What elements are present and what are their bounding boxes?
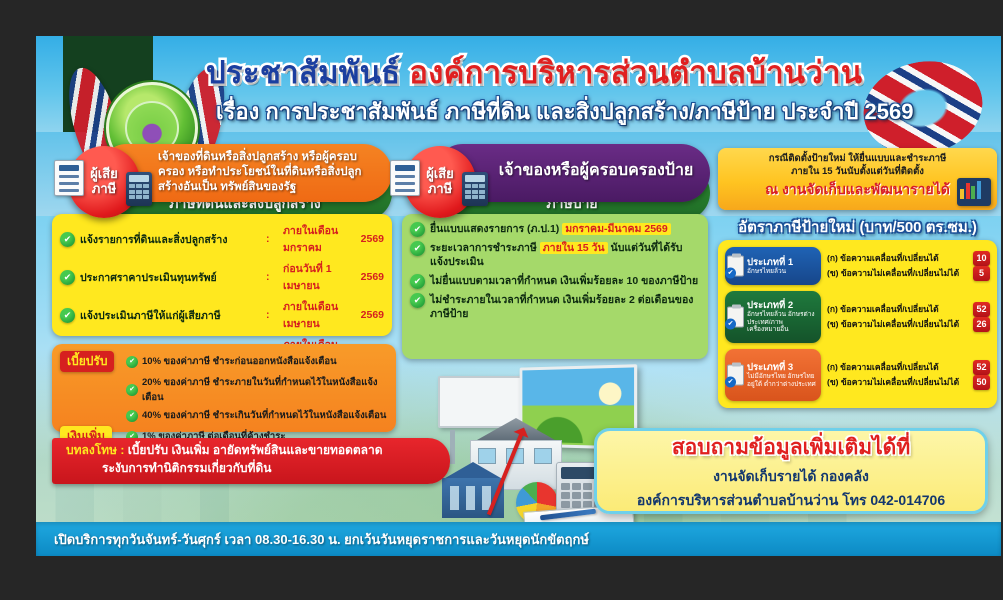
rate-type-title-3: ประเภทที่ 3 [747, 362, 817, 373]
rate-item-label: (ก) ข้อความเคลื่อนที่/เปลี่ยนได้ [827, 252, 970, 265]
calculator-icon [462, 172, 488, 206]
page-title-blue: ประชาสัมพันธ์ [206, 55, 409, 90]
schedule-label: แจ้งประเมินภาษีให้แก่ผู้เสียภาษี [80, 307, 266, 324]
land-payer-label-1: ผู้เสีย [90, 167, 118, 182]
rate-item: (ก) ข้อความเคลื่อนที่/เปลี่ยนได้ 52 [827, 360, 990, 375]
clipboard-check-icon [727, 307, 744, 328]
sanction-bar: บทลงโทษ : เบี้ยปรับ เงินเพิ่ม อายัดทรัพย… [52, 438, 450, 484]
land-payer-label-2: ภาษี [92, 182, 116, 197]
rate-table-header: อัตราภาษีป้ายใหม่ (บาท/500 ตร.ซม.) [718, 214, 997, 240]
contact-department: งานจัดเก็บรายได้ กองคลัง [713, 466, 869, 488]
penalty-text: 20% ของค่าภาษี ชำระภายในวันที่กำหนดไว้ใน… [142, 375, 388, 405]
sign-schedule-text: ยื่นแบบแสดงรายการ (ภ.ป.1) มกราคม-มีนาคม … [430, 222, 700, 236]
table-row: ประเภทที่ 3 ไม่มีอักษรไทย อักษรไทยอยู่ใต… [725, 349, 990, 401]
check-icon: ✔ [126, 384, 138, 396]
rate-type-badge-2: ประเภทที่ 2 อักษรไทยล้วน อักษรต่างประเทศ… [725, 291, 821, 343]
check-icon: ✔ [60, 270, 75, 285]
check-icon: ✔ [410, 274, 425, 289]
monitor-chart-icon [957, 178, 991, 206]
list-item: ✔ ยื่นแบบแสดงรายการ (ภ.ป.1) มกราคม-มีนาค… [410, 222, 700, 237]
page-title: ประชาสัมพันธ์ องค์การบริหารส่วนตำบลบ้านว… [206, 56, 906, 90]
document-icon [390, 160, 420, 196]
check-icon: ✔ [60, 308, 75, 323]
sign-schedule-text: ไม่ชำระภายในเวลาที่กำหนด เงินเพิ่มร้อยละ… [430, 293, 700, 322]
rate-type-title-2: ประเภทที่ 2 [747, 300, 817, 311]
sign-taxpayer-badge: ผู้เสีย ภาษี [404, 146, 476, 218]
sign-schedule-highlight: มกราคม-มีนาคม 2569 [562, 223, 670, 235]
check-icon: ✔ [410, 241, 425, 256]
schedule-year: 2569 [350, 233, 384, 245]
clipboard-check-icon [727, 365, 744, 386]
list-item: ✔ ไม่ชำระภายในเวลาที่กำหนด เงินเพิ่มร้อย… [410, 293, 700, 322]
sanction-text-1: เบี้ยปรับ เงินเพิ่ม อายัดทรัพย์สินและขาย… [128, 443, 383, 457]
land-taxpayer-description: เจ้าของที่ดินหรือสิ่งปลูกสร้าง หรือผู้คร… [158, 150, 380, 196]
new-sign-line-3: ณ งานจัดเก็บและพัฒนารายได้ [726, 180, 989, 199]
rate-item-value: 26 [973, 317, 990, 332]
schedule-label: แจ้งรายการที่ดินและสิ่งปลูกสร้าง [80, 231, 266, 248]
contact-office-phone: องค์การบริหารส่วนตำบลบ้านว่าน โทร 042-01… [637, 490, 945, 512]
check-icon: ✔ [126, 410, 138, 422]
rate-item: (ข) ข้อความไม่เคลื่อนที่/เปลี่ยนไม่ได้ 2… [827, 317, 990, 332]
sign-tax-rate-table: ประเภทที่ 1 อักษรไทยล้วน (ก) ข้อความเคลื… [718, 240, 997, 408]
rate-item-value: 50 [973, 375, 990, 390]
clipboard-check-icon [727, 256, 744, 277]
sign-schedule-pre: ยื่นแบบแสดงรายการ (ภ.ป.1) [430, 223, 562, 235]
list-item: ✔ 40% ของค่าภาษี ชำระเกินวันที่กำหนดไว้ใ… [60, 408, 388, 423]
rate-item: (ข) ข้อความไม่เคลื่อนที่/เปลี่ยนไม่ได้ 5… [827, 375, 990, 390]
page-title-red: องค์การบริหารส่วนตำบลบ้านว่าน [409, 55, 862, 90]
list-item: ✔ ไม่ยื่นแบบตามเวลาที่กำหนด เงินเพิ่มร้อ… [410, 274, 700, 289]
list-item: ✔ แจ้งรายการที่ดินและสิ่งปลูกสร้าง : ภาย… [60, 222, 384, 256]
sanction-tag: บทลงโทษ : [66, 443, 124, 457]
table-row: ประเภทที่ 1 อักษรไทยล้วน (ก) ข้อความเคลื… [725, 247, 990, 285]
land-taxpayer-badge: ผู้เสีย ภาษี [68, 146, 140, 218]
new-sign-line-2: ภายใน 15 วันนับตั้งแต่วันที่ติดตั้ง [726, 166, 989, 179]
schedule-separator: : [266, 233, 283, 245]
sign-schedule-text: ระยะเวลาการชำระภาษี ภายใน 15 วัน นับแต่ว… [430, 241, 700, 270]
sanction-line-1: บทลงโทษ : เบี้ยปรับ เงินเพิ่ม อายัดทรัพย… [66, 443, 436, 459]
schedule-separator: : [266, 271, 283, 283]
rate-type-desc-1: อักษรไทยล้วน [747, 268, 793, 276]
rate-item-label: (ก) ข้อความเคลื่อนที่/เปลี่ยนได้ [827, 303, 970, 316]
schedule-separator: : [266, 309, 283, 321]
list-item: ✔ 20% ของค่าภาษี ชำระภายในวันที่กำหนดไว้… [60, 375, 388, 405]
sign-taxpayer-description: เจ้าของหรือผู้ครอบครองป้าย [494, 150, 698, 181]
list-item: ✔ แจ้งประเมินภาษีให้แก่ผู้เสียภาษี : ภาย… [60, 298, 384, 332]
rate-item-label: (ข) ข้อความไม่เคลื่อนที่/เปลี่ยนไม่ได้ [827, 376, 970, 389]
penalty-panel: เบี้ยปรับ ✔ 10% ของค่าภาษี ชำระก่อนออกหน… [52, 344, 396, 432]
rate-type-title-1: ประเภทที่ 1 [747, 257, 793, 268]
rate-item: (ข) ข้อความไม่เคลื่อนที่/เปลี่ยนไม่ได้ 5 [827, 266, 990, 281]
rate-type-desc-2: อักษรไทยล้วน อักษรต่างประเทศ/ภาพ เครื่อง… [747, 311, 817, 334]
rate-type-badge-1: ประเภทที่ 1 อักษรไทยล้วน [725, 247, 821, 285]
rate-item: (ก) ข้อความเคลื่อนที่/เปลี่ยนได้ 52 [827, 302, 990, 317]
schedule-year: 2569 [350, 309, 384, 321]
schedule-label: ประกาศราคาประเมินทุนทรัพย์ [80, 269, 266, 286]
schedule-due: ภายในเดือน มกราคม [283, 222, 350, 256]
land-taxpayer-banner: ภาษีที่ดินและสิ่งปลูกสร้าง เจ้าของที่ดิน… [52, 144, 392, 222]
schedule-year: 2569 [350, 271, 384, 283]
page-subtitle: เรื่อง การประชาสัมพันธ์ ภาษีที่ดิน และสิ… [216, 94, 936, 129]
check-icon: ✔ [126, 356, 138, 368]
contact-box: สอบถามข้อมูลเพิ่มเติมได้ที่ งานจัดเก็บรา… [594, 428, 988, 514]
fine-tag: เบี้ยปรับ [60, 351, 114, 372]
check-icon: ✔ [410, 293, 425, 308]
document-icon [54, 160, 84, 196]
sign-taxpayer-banner: ภาษีป้าย เจ้าของหรือผู้ครอบครองป้าย ผู้เ… [388, 144, 710, 222]
contact-title: สอบถามข้อมูลเพิ่มเติมได้ที่ [672, 431, 910, 464]
rate-table-title: อัตราภาษีป้ายใหม่ (บาท/500 ตร.ซม.) [738, 215, 977, 239]
penalty-text: 10% ของค่าภาษี ชำระก่อนออกหนังสือแจ้งเตื… [142, 354, 388, 369]
schedule-due: ภายในเดือน เมษายน [283, 298, 350, 332]
poster-canvas: ประชาสัมพันธ์ องค์การบริหารส่วนตำบลบ้านว… [36, 36, 1001, 556]
rate-item-value: 10 [973, 251, 990, 266]
list-item: เบี้ยปรับ ✔ 10% ของค่าภาษี ชำระก่อนออกหน… [60, 351, 388, 372]
table-row: ประเภทที่ 2 อักษรไทยล้วน อักษรต่างประเทศ… [725, 291, 990, 343]
rate-item-value: 52 [973, 360, 990, 375]
sign-tax-schedule-panel: ✔ ยื่นแบบแสดงรายการ (ภ.ป.1) มกราคม-มีนาค… [402, 214, 708, 359]
penalty-text: 40% ของค่าภาษี ชำระเกินวันที่กำหนดไว้ในห… [142, 408, 388, 423]
rate-type-desc-3: ไม่มีอักษรไทย อักษรไทยอยู่ใต้ ต่ำกว่าต่า… [747, 373, 817, 388]
sign-schedule-highlight: ภายใน 15 วัน [540, 242, 608, 254]
sign-schedule-text: ไม่ยื่นแบบตามเวลาที่กำหนด เงินเพิ่มร้อยล… [430, 274, 700, 288]
rate-item-label: (ก) ข้อความเคลื่อนที่/เปลี่ยนได้ [827, 361, 970, 374]
list-item: ✔ ระยะเวลาการชำระภาษี ภายใน 15 วัน นับแต… [410, 241, 700, 270]
new-sign-line-1: กรณีติดตั้งป้ายใหม่ ให้ยื่นแบบและชำระภาษ… [726, 153, 989, 166]
rate-item-label: (ข) ข้อความไม่เคลื่อนที่/เปลี่ยนไม่ได้ [827, 267, 970, 280]
check-icon: ✔ [410, 222, 425, 237]
sanction-line-2: ระงับการทำนิติกรรมเกี่ยวกับที่ดิน [66, 459, 436, 478]
sign-payer-label-1: ผู้เสีย [426, 167, 454, 182]
office-hours-text: เปิดบริการทุกวันจันทร์-วันศุกร์ เวลา 08.… [54, 529, 589, 550]
land-tax-schedule-panel: ✔ แจ้งรายการที่ดินและสิ่งปลูกสร้าง : ภาย… [52, 214, 392, 336]
rate-item-label: (ข) ข้อความไม่เคลื่อนที่/เปลี่ยนไม่ได้ [827, 318, 970, 331]
check-icon: ✔ [60, 232, 75, 247]
list-item: ✔ ประกาศราคาประเมินทุนทรัพย์ : ก่อนวันที… [60, 260, 384, 294]
rate-item: (ก) ข้อความเคลื่อนที่/เปลี่ยนได้ 10 [827, 251, 990, 266]
rate-item-value: 5 [973, 266, 990, 281]
calculator-icon [126, 172, 152, 206]
office-hours-bar: เปิดบริการทุกวันจันทร์-วันศุกร์ เวลา 08.… [36, 522, 1001, 556]
sign-schedule-pre: ระยะเวลาการชำระภาษี [430, 242, 540, 254]
rate-item-value: 52 [973, 302, 990, 317]
rate-type-badge-3: ประเภทที่ 3 ไม่มีอักษรไทย อักษรไทยอยู่ใต… [725, 349, 821, 401]
new-sign-notice-box: กรณีติดตั้งป้ายใหม่ ให้ยื่นแบบและชำระภาษ… [718, 148, 997, 210]
sign-payer-label-2: ภาษี [428, 182, 452, 197]
schedule-due: ก่อนวันที่ 1 เมษายน [283, 260, 350, 294]
